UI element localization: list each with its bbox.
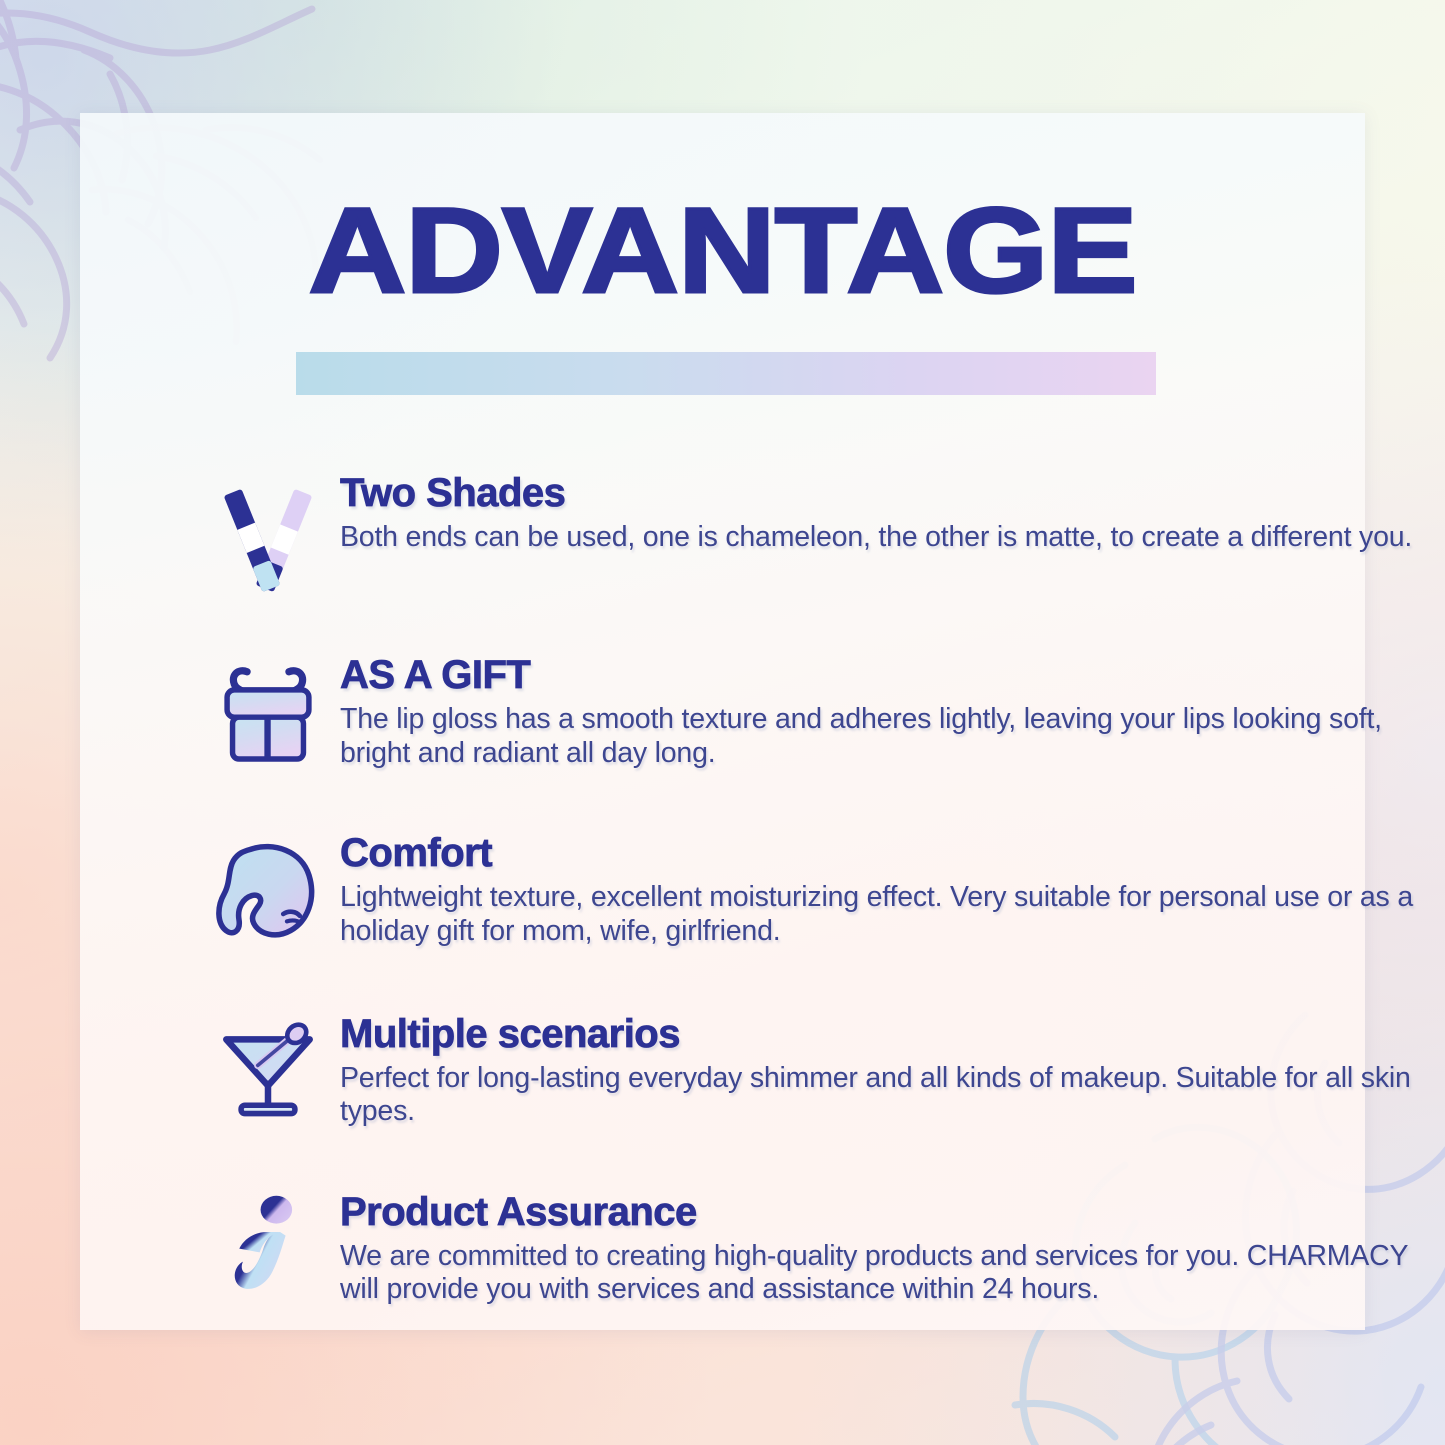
feature-text-multiple-scenarios: Multiple scenarios Perfect for long-last… — [326, 1009, 1430, 1129]
feature-description: Both ends can be used, one is chameleon,… — [340, 521, 1430, 555]
content-card: ADVANTAGE — [80, 113, 1365, 1330]
feature-list: Two Shades Both ends can be used, one is… — [210, 468, 1430, 1307]
woman-face-icon — [210, 828, 326, 948]
feature-title: Multiple scenarios — [340, 1013, 1430, 1055]
feature-title: Two Shades — [340, 472, 1430, 514]
feature-item-multiple-scenarios: Multiple scenarios Perfect for long-last… — [210, 1009, 1430, 1129]
feature-item-product-assurance: Product Assurance We are committed to cr… — [210, 1187, 1430, 1307]
crossed-lip-wands-icon — [210, 468, 326, 588]
feature-description: Lightweight texture, excellent moisturiz… — [340, 881, 1430, 948]
feature-description: The lip gloss has a smooth texture and a… — [340, 703, 1430, 770]
feature-text-two-shades: Two Shades Both ends can be used, one is… — [326, 468, 1430, 555]
feature-title: AS A GIFT — [340, 654, 1430, 696]
title-highlight-bar — [296, 352, 1156, 395]
feature-text-product-assurance: Product Assurance We are committed to cr… — [326, 1187, 1430, 1307]
feature-text-comfort: Comfort Lightweight texture, excellent m… — [326, 828, 1430, 948]
page-title: ADVANTAGE — [3, 186, 1442, 311]
feature-item-comfort: Comfort Lightweight texture, excellent m… — [210, 828, 1430, 948]
page-title-block: ADVANTAGE — [80, 186, 1365, 316]
feature-item-as-a-gift: AS A GIFT The lip gloss has a smooth tex… — [210, 650, 1430, 770]
info-italic-i-icon — [210, 1187, 326, 1307]
infographic-stage: ADVANTAGE — [0, 0, 1445, 1445]
feature-description: Perfect for long-lasting everyday shimme… — [340, 1062, 1430, 1129]
gift-box-icon — [210, 650, 326, 770]
feature-item-two-shades: Two Shades Both ends can be used, one is… — [210, 468, 1430, 588]
feature-text-as-a-gift: AS A GIFT The lip gloss has a smooth tex… — [326, 650, 1430, 770]
cocktail-glass-icon — [210, 1009, 326, 1129]
feature-title: Product Assurance — [340, 1191, 1430, 1233]
feature-description: We are committed to creating high-qualit… — [340, 1240, 1430, 1307]
feature-title: Comfort — [340, 832, 1430, 874]
